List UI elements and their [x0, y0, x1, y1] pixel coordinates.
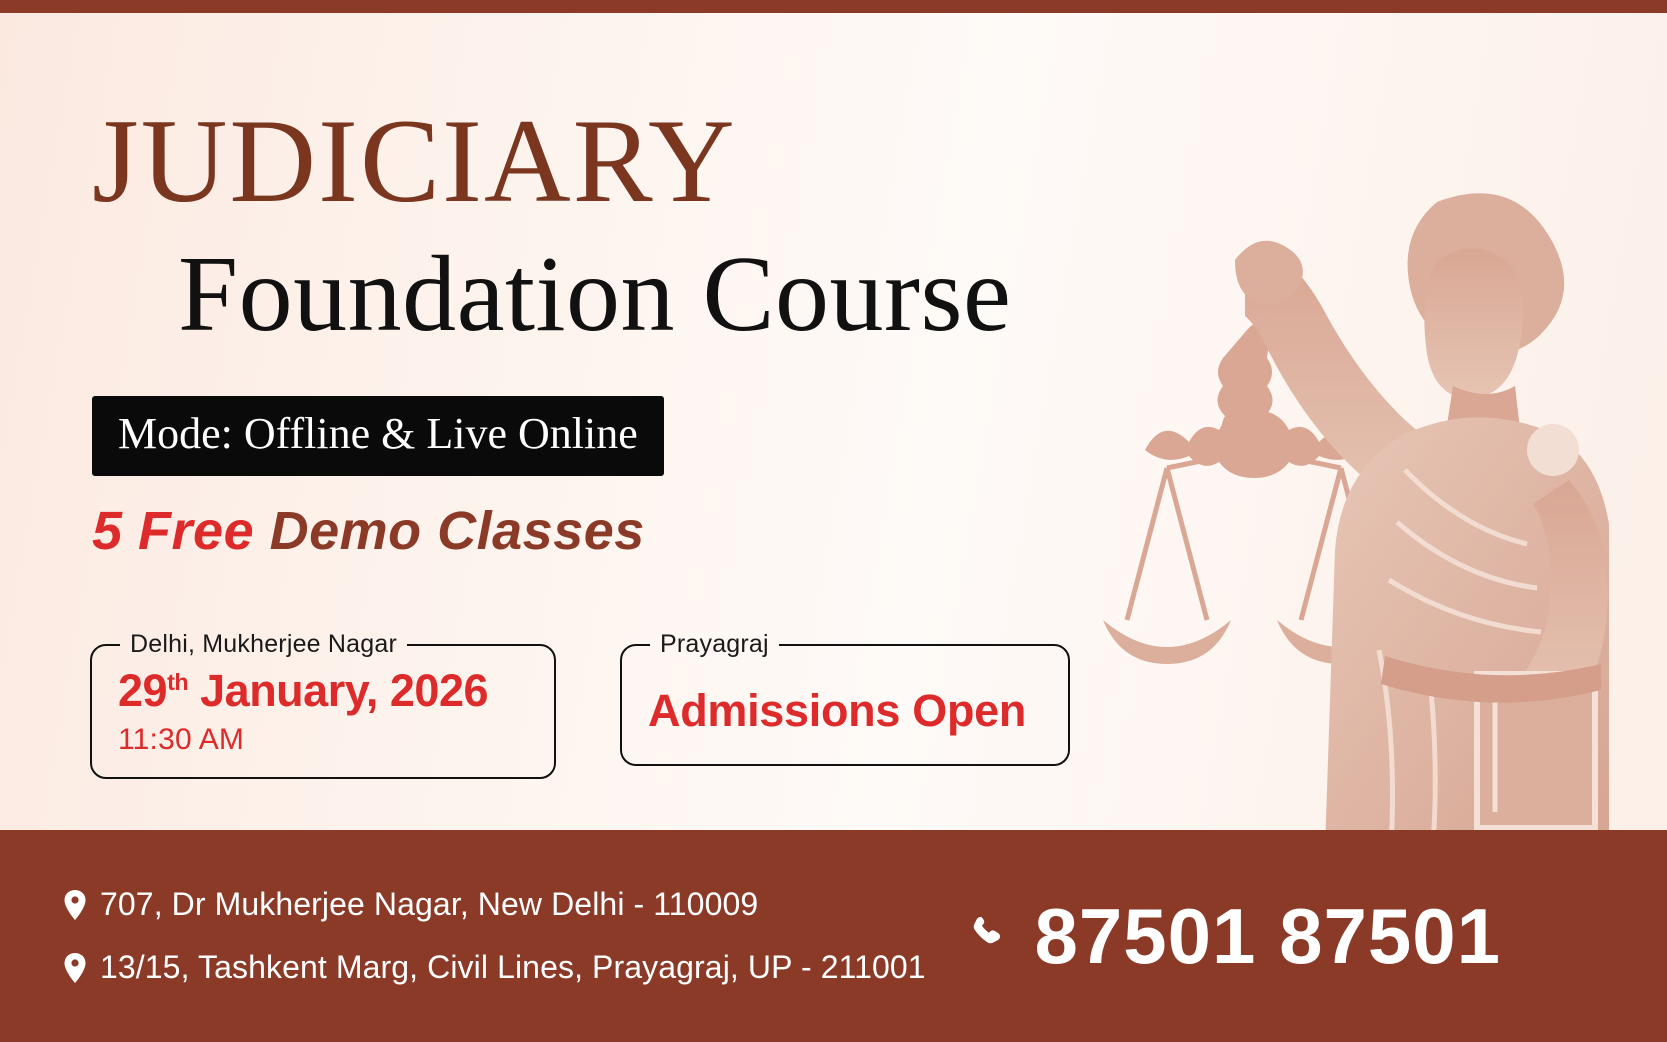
mode-badge: Mode: Offline & Live Online	[92, 396, 664, 476]
info-box-delhi-legend: Delhi, Mukherjee Nagar	[120, 630, 407, 659]
address-text: 13/15, Tashkent Marg, Civil Lines, Praya…	[100, 949, 926, 986]
offer-rest: Demo Classes	[254, 501, 645, 561]
free-demo-offer: 5 Free Demo Classes	[92, 500, 645, 562]
phone-icon	[967, 913, 1013, 959]
address-list: 707, Dr Mukherjee Nagar, New Delhi - 110…	[64, 886, 926, 986]
location-pin-icon	[64, 953, 86, 983]
headline-block: Judiciary Foundation Course	[92, 62, 1112, 349]
info-box-prayagraj: Prayagraj Admissions Open	[620, 630, 1070, 766]
batch-start-date: 29th January, 2026	[118, 665, 528, 717]
phone-block[interactable]: 87501 87501	[967, 891, 1501, 982]
address-item: 13/15, Tashkent Marg, Civil Lines, Praya…	[64, 949, 926, 986]
location-pin-icon	[64, 890, 86, 920]
address-text: 707, Dr Mukherjee Nagar, New Delhi - 110…	[100, 886, 758, 923]
address-item: 707, Dr Mukherjee Nagar, New Delhi - 110…	[64, 886, 926, 923]
page-subtitle: Foundation Course	[178, 241, 1112, 349]
batch-start-time: 11:30 AM	[118, 723, 528, 757]
judiciary-course-banner: Judiciary Foundation Course Mode: Offlin…	[0, 0, 1667, 1042]
info-box-row: Delhi, Mukherjee Nagar 29th January, 202…	[88, 630, 1072, 779]
date-rest: January, 2026	[188, 665, 488, 716]
info-box-prayagraj-legend: Prayagraj	[650, 630, 779, 659]
contact-footer: 707, Dr Mukherjee Nagar, New Delhi - 110…	[0, 830, 1667, 1042]
phone-number: 87501 87501	[1035, 891, 1501, 982]
top-accent-bar	[0, 0, 1667, 13]
date-day: 29	[118, 665, 167, 716]
info-box-delhi: Delhi, Mukherjee Nagar 29th January, 202…	[90, 630, 556, 779]
lady-justice-illustration	[1049, 150, 1609, 850]
offer-highlight: 5 Free	[92, 501, 254, 561]
date-ordinal: th	[167, 669, 188, 695]
page-title: Judiciary	[92, 62, 1112, 227]
admissions-status: Admissions Open	[648, 685, 1042, 737]
